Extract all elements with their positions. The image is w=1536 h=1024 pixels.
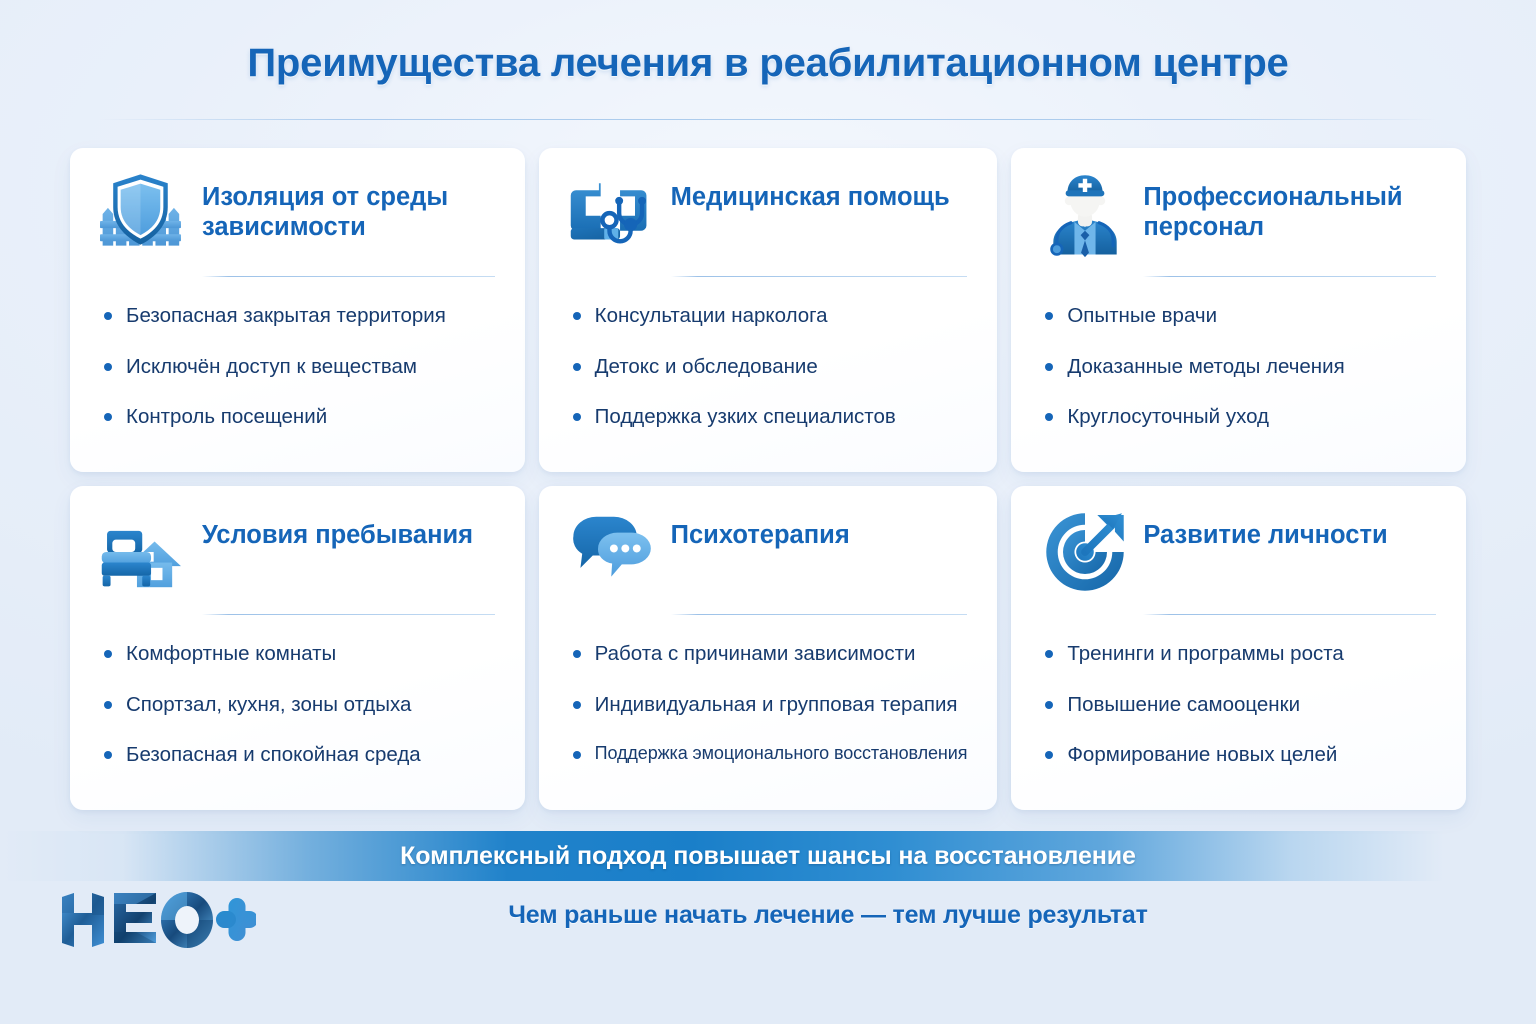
target-arrow-icon xyxy=(1041,508,1129,596)
bed-house-icon xyxy=(100,508,188,596)
list-item: Контроль посещений xyxy=(100,404,495,430)
benefit-card-staff[interactable]: Профессиональный персонал Опытные врачи … xyxy=(1011,148,1466,472)
list-item: Доказанные методы лечения xyxy=(1041,354,1436,380)
card-header: Профессиональный персонал xyxy=(1041,174,1436,266)
benefits-grid: Изоляция от среды зависимости Безопасная… xyxy=(70,148,1466,810)
card-title: Развитие личности xyxy=(1143,512,1387,550)
card-title: Психотерапия xyxy=(671,512,850,550)
list-item: Детокс и обследование xyxy=(569,354,968,380)
list-item: Консультации нарколога xyxy=(569,303,968,329)
list-item: Поддержка эмоционального восстановления xyxy=(569,742,968,765)
card-title: Условия пребывания xyxy=(202,512,473,550)
list-item: Формирование новых целей xyxy=(1041,742,1436,768)
card-divider xyxy=(671,614,968,615)
list-item: Повышение самооценки xyxy=(1041,692,1436,718)
benefit-card-psychotherapy[interactable]: Психотерапия Работа с причинами зависимо… xyxy=(539,486,998,810)
footer-tagline: Чем раньше начать лечение — тем лучше ре… xyxy=(0,901,1536,930)
header-divider xyxy=(98,119,1438,120)
benefit-card-isolation[interactable]: Изоляция от среды зависимости Безопасная… xyxy=(70,148,525,472)
benefit-card-accommodation[interactable]: Условия пребывания Комфортные комнаты Сп… xyxy=(70,486,525,810)
speech-bubbles-icon xyxy=(569,508,657,596)
card-header: Психотерапия xyxy=(569,512,968,604)
benefit-card-medical-help[interactable]: Медицинская помощь Консультации нарколог… xyxy=(539,148,998,472)
page-header: Преимущества лечения в реабилитационном … xyxy=(0,0,1536,126)
shield-fence-icon xyxy=(100,170,188,258)
card-divider xyxy=(202,614,495,615)
benefit-list: Комфортные комнаты Спортзал, кухня, зоны… xyxy=(100,641,495,768)
benefit-list: Безопасная закрытая территория Исключён … xyxy=(100,303,495,430)
card-header: Развитие личности xyxy=(1041,512,1436,604)
card-header: Изоляция от среды зависимости xyxy=(100,174,495,266)
list-item: Безопасная закрытая территория xyxy=(100,303,495,329)
summary-banner: Комплексный подход повышает шансы на вос… xyxy=(0,831,1536,881)
list-item: Тренинги и программы роста xyxy=(1041,641,1436,667)
card-title: Профессиональный персонал xyxy=(1143,174,1436,242)
benefit-list: Тренинги и программы роста Повышение сам… xyxy=(1041,641,1436,768)
card-header: Условия пребывания xyxy=(100,512,495,604)
list-item: Круглосуточный уход xyxy=(1041,404,1436,430)
list-item: Работа с причинами зависимости xyxy=(569,641,968,667)
page-footer: Чем раньше начать лечение — тем лучше ре… xyxy=(0,881,1536,971)
card-header: Медицинская помощь xyxy=(569,174,968,266)
benefit-list: Работа с причинами зависимости Индивидуа… xyxy=(569,641,968,765)
page-title: Преимущества лечения в реабилитационном … xyxy=(247,41,1288,86)
list-item: Комфортные комнаты xyxy=(100,641,495,667)
benefit-list: Опытные врачи Доказанные методы лечения … xyxy=(1041,303,1436,430)
card-divider xyxy=(1143,276,1436,277)
list-item: Спортзал, кухня, зоны отдыха xyxy=(100,692,495,718)
list-item: Индивидуальная и групповая терапия xyxy=(569,692,968,718)
banner-text: Комплексный подход повышает шансы на вос… xyxy=(400,842,1136,871)
list-item: Безопасная и спокойная среда xyxy=(100,742,495,768)
list-item: Поддержка узких специалистов xyxy=(569,404,968,430)
benefit-card-personal-growth[interactable]: Развитие личности Тренинги и программы р… xyxy=(1011,486,1466,810)
card-divider xyxy=(202,276,495,277)
card-divider xyxy=(1143,614,1436,615)
card-title: Изоляция от среды зависимости xyxy=(202,174,495,242)
doctor-icon xyxy=(1041,170,1129,258)
list-item: Опытные врачи xyxy=(1041,303,1436,329)
benefit-list: Консультации нарколога Детокс и обследов… xyxy=(569,303,968,430)
card-title: Медицинская помощь xyxy=(671,174,950,212)
card-divider xyxy=(671,276,968,277)
medical-bag-stethoscope-icon xyxy=(569,170,657,258)
list-item: Исключён доступ к веществам xyxy=(100,354,495,380)
